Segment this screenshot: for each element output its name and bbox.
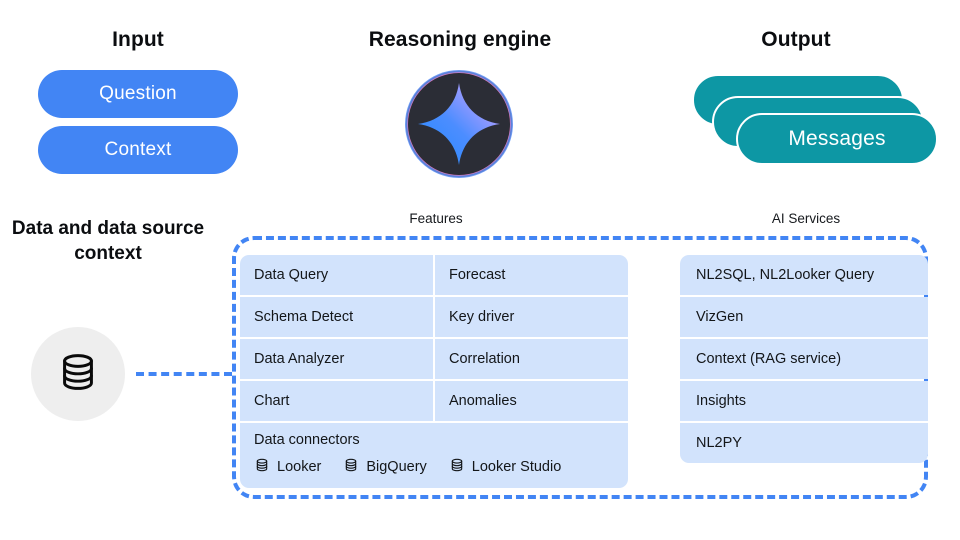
database-icon [449, 457, 465, 477]
ai-service-nl2py[interactable]: NL2PY [680, 423, 928, 463]
group-caption-ai-services: AI Services [716, 211, 896, 226]
data-connectors-section: Data connectors Looker [240, 423, 628, 488]
feature-cell-data-analyzer[interactable]: Data Analyzer [240, 339, 433, 379]
feature-cell-forecast[interactable]: Forecast [435, 255, 628, 295]
input-pill-context[interactable]: Context [38, 126, 238, 174]
data-connectors-list: Looker BigQuery [254, 457, 614, 477]
database-icon [55, 349, 101, 400]
ai-service-context-rag[interactable]: Context (RAG service) [680, 339, 928, 379]
group-caption-features: Features [346, 211, 526, 226]
feature-cell-chart[interactable]: Chart [240, 381, 433, 421]
page-title-reasoning-engine: Reasoning engine [352, 28, 568, 52]
connector-bigquery[interactable]: BigQuery [343, 457, 426, 477]
table-row: Data Query Forecast [240, 255, 628, 295]
diagram-canvas: Input Reasoning engine Output Question C… [0, 0, 960, 540]
gemini-spark-icon [404, 69, 514, 179]
features-panel: Data Query Forecast Schema Detect Key dr… [240, 255, 628, 488]
page-title-input: Input [48, 28, 228, 52]
database-icon [254, 457, 270, 477]
data-source-avatar [31, 327, 125, 421]
connector-label: Looker [277, 459, 321, 475]
input-pill-question[interactable]: Question [38, 70, 238, 118]
ai-service-vizgen[interactable]: VizGen [680, 297, 928, 337]
output-message-card-front[interactable]: Messages [736, 113, 938, 165]
feature-cell-data-query[interactable]: Data Query [240, 255, 433, 295]
data-source-connector-line [136, 372, 232, 376]
feature-cell-schema-detect[interactable]: Schema Detect [240, 297, 433, 337]
database-icon [343, 457, 359, 477]
connector-looker[interactable]: Looker [254, 457, 321, 477]
data-source-context-label: Data and data source context [6, 216, 210, 266]
feature-cell-key-driver[interactable]: Key driver [435, 297, 628, 337]
feature-cell-anomalies[interactable]: Anomalies [435, 381, 628, 421]
table-row: Schema Detect Key driver [240, 297, 628, 337]
data-connectors-title: Data connectors [254, 432, 614, 448]
connector-label: BigQuery [366, 459, 426, 475]
table-row: Data Analyzer Correlation [240, 339, 628, 379]
connector-label: Looker Studio [472, 459, 561, 475]
ai-service-insights[interactable]: Insights [680, 381, 928, 421]
connector-looker-studio[interactable]: Looker Studio [449, 457, 561, 477]
ai-services-panel: NL2SQL, NL2Looker Query VizGen Context (… [680, 255, 928, 463]
page-title-output: Output [692, 28, 900, 52]
feature-cell-correlation[interactable]: Correlation [435, 339, 628, 379]
table-row: Chart Anomalies [240, 381, 628, 421]
ai-service-nl2sql[interactable]: NL2SQL, NL2Looker Query [680, 255, 928, 295]
